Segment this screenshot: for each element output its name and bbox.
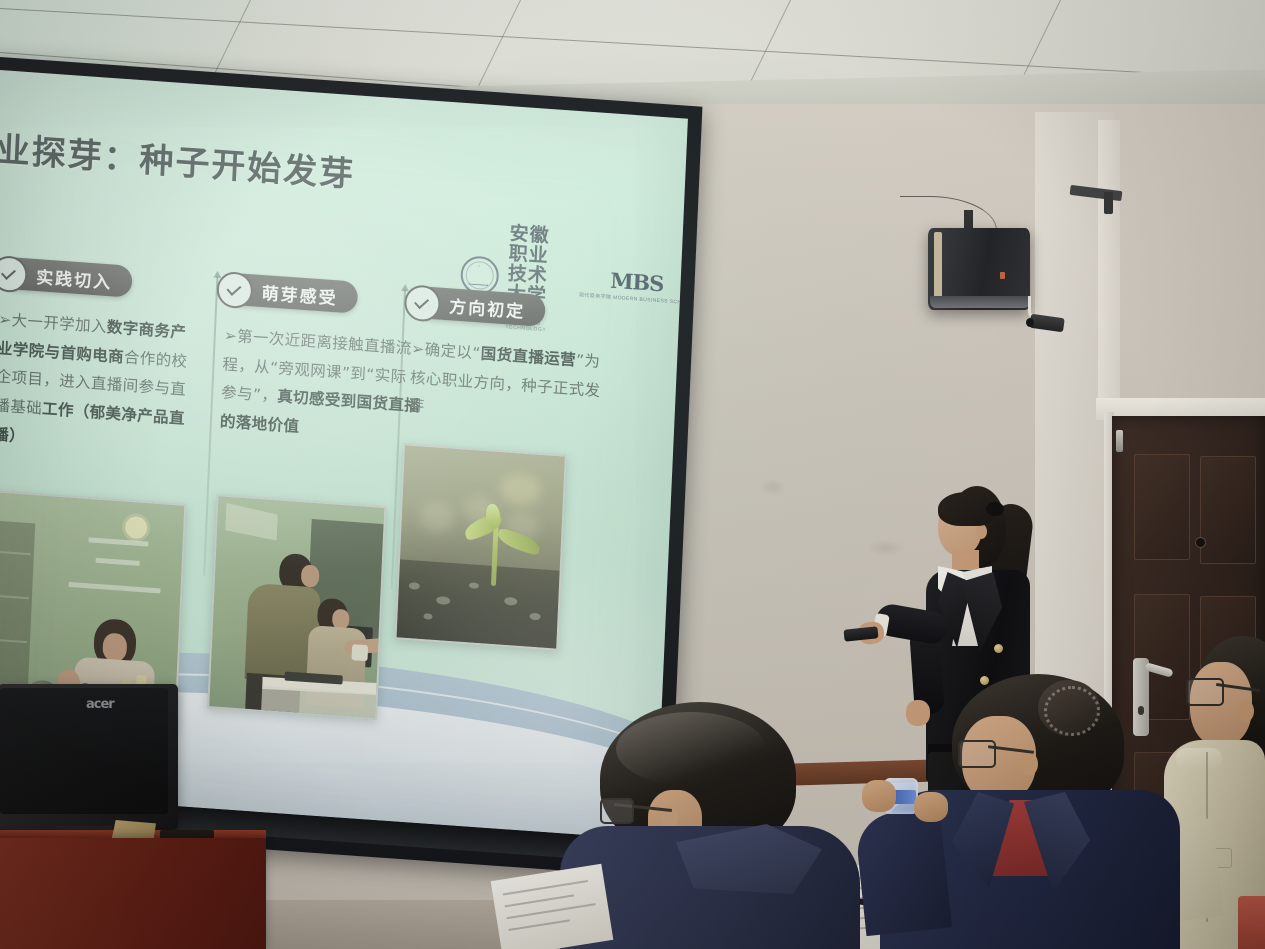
door-hinge xyxy=(1116,430,1123,452)
eyeglasses-icon xyxy=(958,740,996,768)
judge-hand-left xyxy=(862,780,896,812)
judge-shoulder xyxy=(1176,748,1222,770)
column-1-body: ➢大一开学加入数字商务产业学院与首购电商合作的校企项目，进入直播间参与直播基础工… xyxy=(0,305,198,462)
col3-run-1: 国货直播运营 xyxy=(480,345,576,370)
column-2-body: ➢第一次近距离接触直播流程，从“旁观网课”到“实际参与”，真切感受到国货直播的落… xyxy=(219,321,424,450)
wall-mark xyxy=(866,540,906,556)
column-3-pill-label: 方向初定 xyxy=(449,292,526,322)
camera-lens-icon xyxy=(1026,318,1034,327)
column-2-pill-label: 萌芽感受 xyxy=(261,279,338,309)
check-circle-icon xyxy=(216,271,254,310)
slide-photo-two-people-desk xyxy=(207,494,386,720)
col1-run-0: ➢大一开学加入 xyxy=(0,310,107,336)
wall-mark xyxy=(760,478,786,496)
blazer-button xyxy=(980,676,989,685)
door-peephole-icon xyxy=(1196,538,1205,547)
column-3-body: ➢确定以“国货直播运营”为核心职业方向，种子正式发芽 xyxy=(408,335,611,435)
speaker-trim-strip xyxy=(934,232,942,306)
wall-pilaster xyxy=(1098,120,1120,420)
door-keyhole-icon xyxy=(1138,706,1144,715)
presenter-hand-left xyxy=(906,700,930,726)
column-2-pill: 萌芽感受 xyxy=(225,272,358,313)
eyeglasses-icon xyxy=(1186,678,1224,706)
blazer-button xyxy=(994,644,1003,653)
speaker-led-icon xyxy=(1000,272,1005,279)
hair-accessory xyxy=(1044,686,1100,736)
judge-arm xyxy=(854,808,952,936)
hair-highlight xyxy=(616,712,766,786)
presenter-hair-tie xyxy=(986,502,1004,516)
judge-hand-right xyxy=(914,792,948,822)
monitor-brand-label: acer xyxy=(86,697,114,712)
speaker-base-lip xyxy=(930,296,1030,308)
judge-ear xyxy=(1238,700,1254,722)
column-1-pill-label: 实践切入 xyxy=(36,263,113,293)
slide-column-2: 萌芽感受 ➢第一次近距离接触直播流程，从“旁观网课”到“实际参与”，真切感受到国… xyxy=(219,272,426,450)
column-1-pill: 实践切入 xyxy=(0,256,133,297)
classroom-photo-scene: 职业探芽：种子开始发芽 安徽职业技术大学 ANHUI INSTITUTE OF … xyxy=(0,0,1265,949)
wooden-lectern xyxy=(0,838,266,949)
col3-run-0: ➢确定以“ xyxy=(411,340,481,363)
ceiling-bracket-arm xyxy=(1104,192,1113,214)
presenter-ear xyxy=(976,524,987,539)
check-circle-icon xyxy=(0,255,28,294)
slide-column-3: 方向初定 ➢确定以“国货直播运营”为核心职业方向，种子正式发芽 xyxy=(408,286,614,435)
slide-column-1: 实践切入 ➢大一开学加入数字商务产业学院与首购电商合作的校企项目，进入直播间参与… xyxy=(0,256,201,462)
eyeglasses-icon xyxy=(600,798,634,824)
chair-back xyxy=(1238,896,1265,949)
monitor-screen xyxy=(0,688,168,814)
slide-photo-sprout xyxy=(394,443,566,650)
slide-title: 职业探芽：种子开始发芽 xyxy=(0,119,356,196)
judge-ear xyxy=(1020,752,1038,776)
